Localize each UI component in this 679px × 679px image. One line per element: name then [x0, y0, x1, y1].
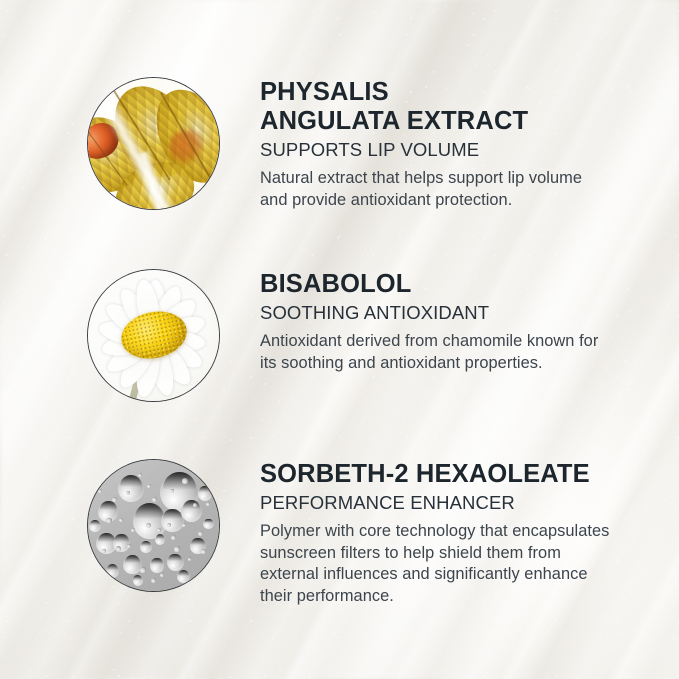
ingredient-subtitle: SOOTHING ANTIOXIDANT	[260, 301, 655, 324]
ingredient-row: SORBETH-2 HEXAOLEATE PERFORMANCE ENHANCE…	[0, 460, 679, 607]
polymer-microsphere	[146, 523, 151, 528]
ingredient-subtitle: SUPPORTS LIP VOLUME	[260, 138, 655, 161]
polymer-sphere	[198, 486, 212, 500]
polymer-sphere	[181, 501, 202, 522]
ingredient-description: Antioxidant derived from chamomile known…	[260, 331, 612, 374]
polymer-microsphere	[147, 484, 151, 488]
polymer-sphere	[150, 558, 164, 572]
ingredient-title: PHYSALIS ANGULATA EXTRACT	[260, 78, 655, 136]
ingredient-copy: BISABOLOL SOOTHING ANTIOXIDANT Antioxida…	[260, 270, 679, 374]
polymer-microsphere	[106, 518, 111, 523]
ingredient-title-line-2: ANGULATA EXTRACT	[260, 107, 528, 135]
polymer-sphere	[123, 556, 141, 574]
polymer-microsphere	[119, 518, 123, 522]
ingredient-title: BISABOLOL	[260, 270, 655, 299]
ingredient-row: PHYSALIS ANGULATA EXTRACT SUPPORTS LIP V…	[0, 78, 679, 211]
polymer-artwork	[88, 460, 219, 591]
polymer-microsphere	[206, 502, 210, 506]
polymer-microsphere	[140, 567, 145, 572]
polymer-microsphere	[116, 546, 121, 551]
chamomile-artwork	[88, 270, 219, 401]
polymer-microsphere	[190, 578, 194, 582]
ingredient-title-line-1: PHYSALIS	[260, 78, 389, 106]
ingredient-copy: PHYSALIS ANGULATA EXTRACT SUPPORTS LIP V…	[260, 78, 679, 211]
polymer-spheres-photo	[88, 460, 219, 591]
polymer-microsphere	[171, 535, 176, 540]
polymer-sphere	[89, 520, 101, 532]
ingredient-subtitle: PERFORMANCE ENHANCER	[260, 491, 655, 514]
polymer-sphere	[167, 554, 184, 571]
physalis-artwork	[88, 78, 219, 209]
ingredient-title: SORBETH-2 HEXAOLEATE	[260, 460, 655, 489]
polymer-microsphere	[167, 523, 171, 527]
polymer-microsphere	[160, 573, 164, 577]
ingredient-description: Natural extract that helps support lip v…	[260, 168, 612, 211]
polymer-microsphere	[112, 497, 117, 502]
physalis-husks-photo	[88, 78, 219, 209]
chamomile-flower-photo	[88, 270, 219, 401]
polymer-microsphere	[127, 544, 131, 548]
polymer-microsphere	[112, 578, 116, 582]
polymer-microsphere	[193, 503, 197, 507]
polymer-microsphere	[138, 473, 142, 477]
polymer-microsphere	[174, 546, 179, 551]
polymer-sphere	[133, 575, 143, 585]
polymer-microsphere	[171, 489, 175, 493]
ingredient-benefits-panel: PHYSALIS ANGULATA EXTRACT SUPPORTS LIP V…	[0, 0, 679, 679]
polymer-sphere	[203, 519, 213, 529]
polymer-sphere	[118, 476, 144, 502]
ingredient-description: Polymer with core technology that encaps…	[260, 521, 612, 607]
polymer-microsphere	[182, 478, 187, 483]
ingredient-row: BISABOLOL SOOTHING ANTIOXIDANT Antioxida…	[0, 270, 679, 401]
ingredient-copy: SORBETH-2 HEXAOLEATE PERFORMANCE ENHANCE…	[260, 460, 679, 607]
